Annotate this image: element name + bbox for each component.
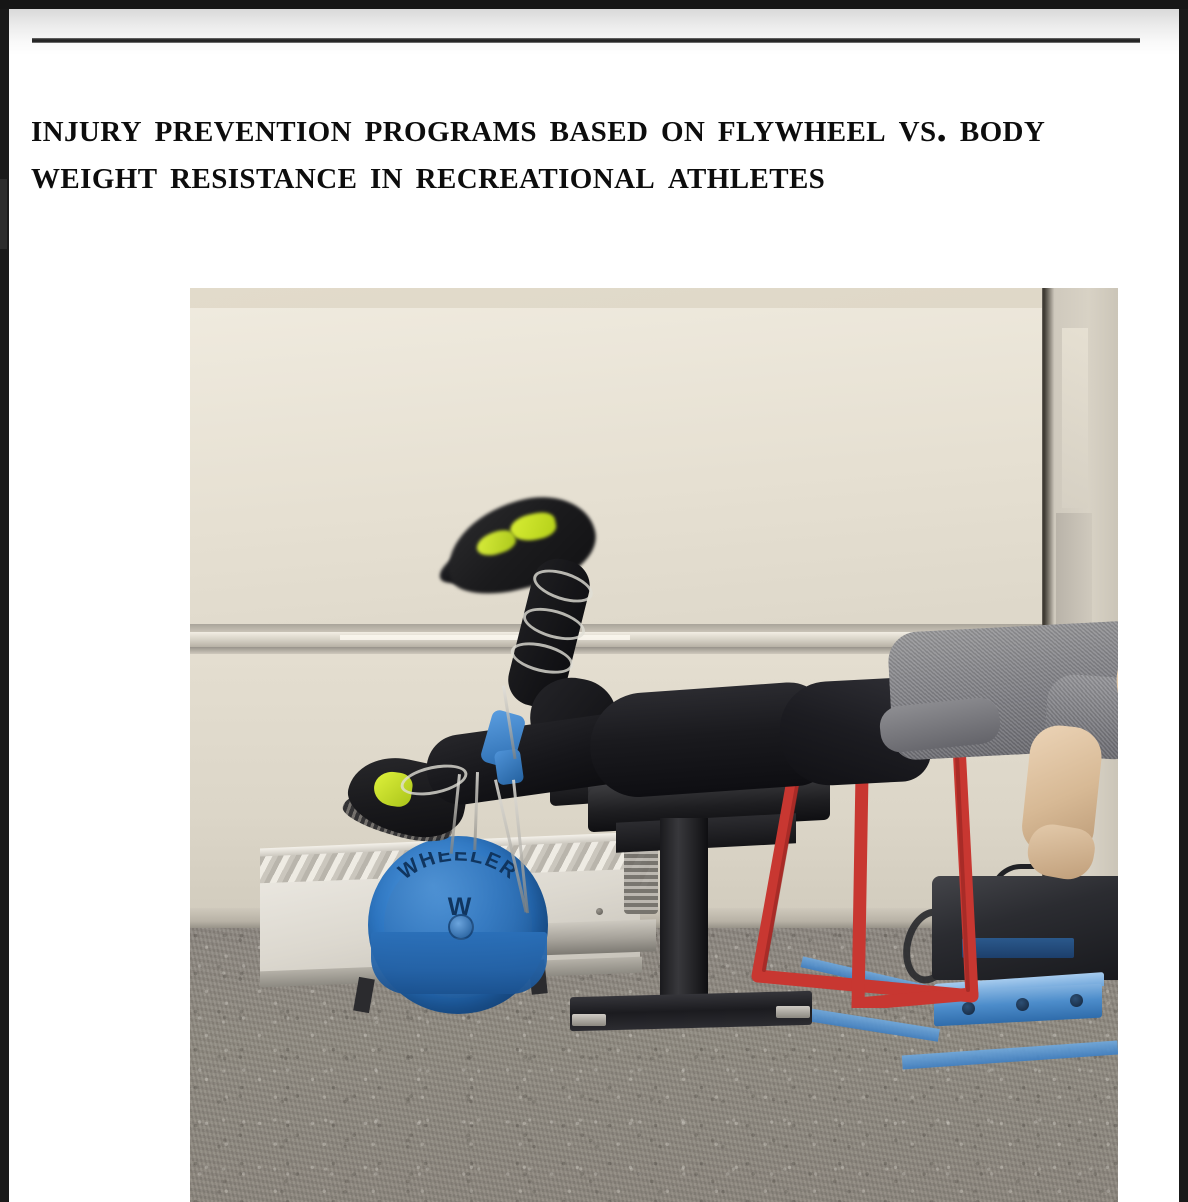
viewer-top-chrome [0,0,1188,9]
foam-block-hole-2 [1016,998,1029,1011]
strap-buckle-2 [494,748,524,785]
page-title: Injury Prevention Programs Based on Flyw… [31,104,1161,198]
document-page: Injury Prevention Programs Based on Flyw… [9,9,1179,1202]
foam-block-hole-3 [1070,994,1083,1007]
flywheel-hub [448,914,474,940]
photo-scene: WHEELER W [190,288,1118,1202]
viewer-right-gutter [1179,9,1188,1202]
figure-photo: WHEELER W [190,288,1118,1202]
bench-foot-cap-left [572,1014,606,1026]
wall-right-panel [1062,328,1088,508]
whiteboard-surface [190,308,1046,628]
flywheel-shroud [371,932,547,994]
page-top-shading [9,9,1179,55]
bench-center-post [660,818,708,1004]
viewer-scrollbar-thumb[interactable] [0,179,7,249]
title-block: Injury Prevention Programs Based on Flyw… [31,104,1161,198]
viewer-left-gutter [0,9,9,1202]
platform-screw-2 [596,908,603,915]
bench-adjust-spring [624,844,658,914]
whiteboard-tray-highlight [340,635,630,640]
header-rule [32,38,1140,43]
document-viewer: Injury Prevention Programs Based on Flyw… [0,0,1188,1202]
